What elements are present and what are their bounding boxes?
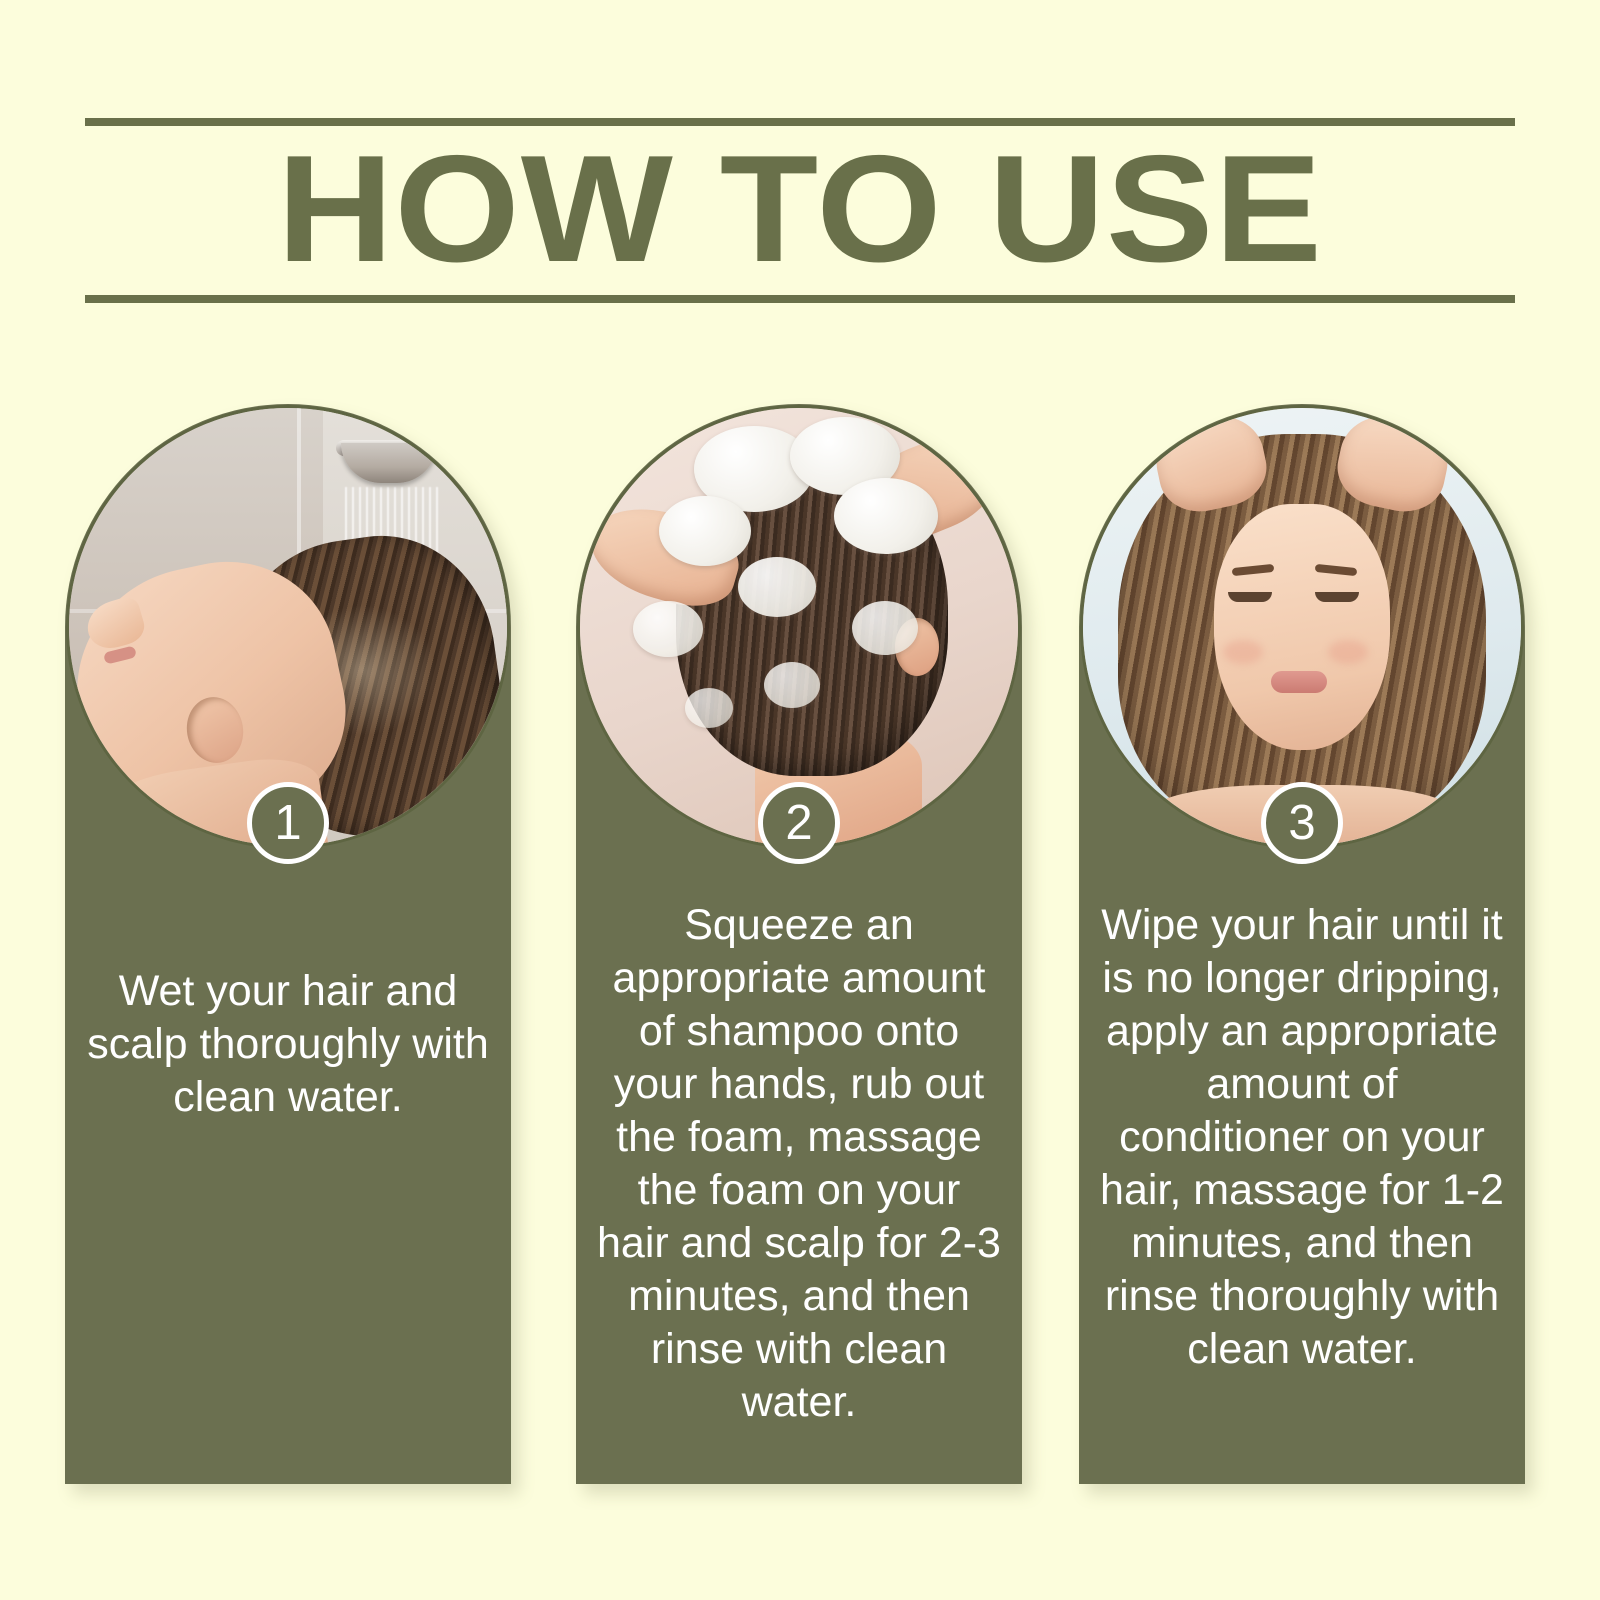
step-text-2: Squeeze an appropriate amount of shampoo… — [596, 899, 1002, 1429]
step-number-3: 3 — [1288, 799, 1315, 848]
step-badge-3: 3 — [1261, 782, 1343, 864]
step-number-1: 1 — [274, 799, 301, 848]
step-card-1: 1 Wet your hair and scalp thoroughly wit… — [65, 404, 511, 1484]
infographic-page: HOW TO USE — [0, 0, 1600, 1600]
step-number-2: 2 — [785, 799, 812, 848]
shower-photo-illustration — [69, 408, 507, 846]
smiling-woman-photo-illustration — [1083, 408, 1521, 846]
steps-container: 1 Wet your hair and scalp thoroughly wit… — [0, 0, 1600, 1600]
step-card-3: 3 Wipe your hair until it is no longer d… — [1079, 404, 1525, 1484]
step-text-3: Wipe your hair until it is no longer dri… — [1099, 899, 1505, 1376]
step-badge-1: 1 — [247, 782, 329, 864]
step-text-1: Wet your hair and scalp thoroughly with … — [85, 965, 491, 1124]
shampoo-foam-photo-illustration — [580, 408, 1018, 846]
step-card-2: 2 Squeeze an appropriate amount of shamp… — [576, 404, 1022, 1484]
step-badge-2: 2 — [758, 782, 840, 864]
